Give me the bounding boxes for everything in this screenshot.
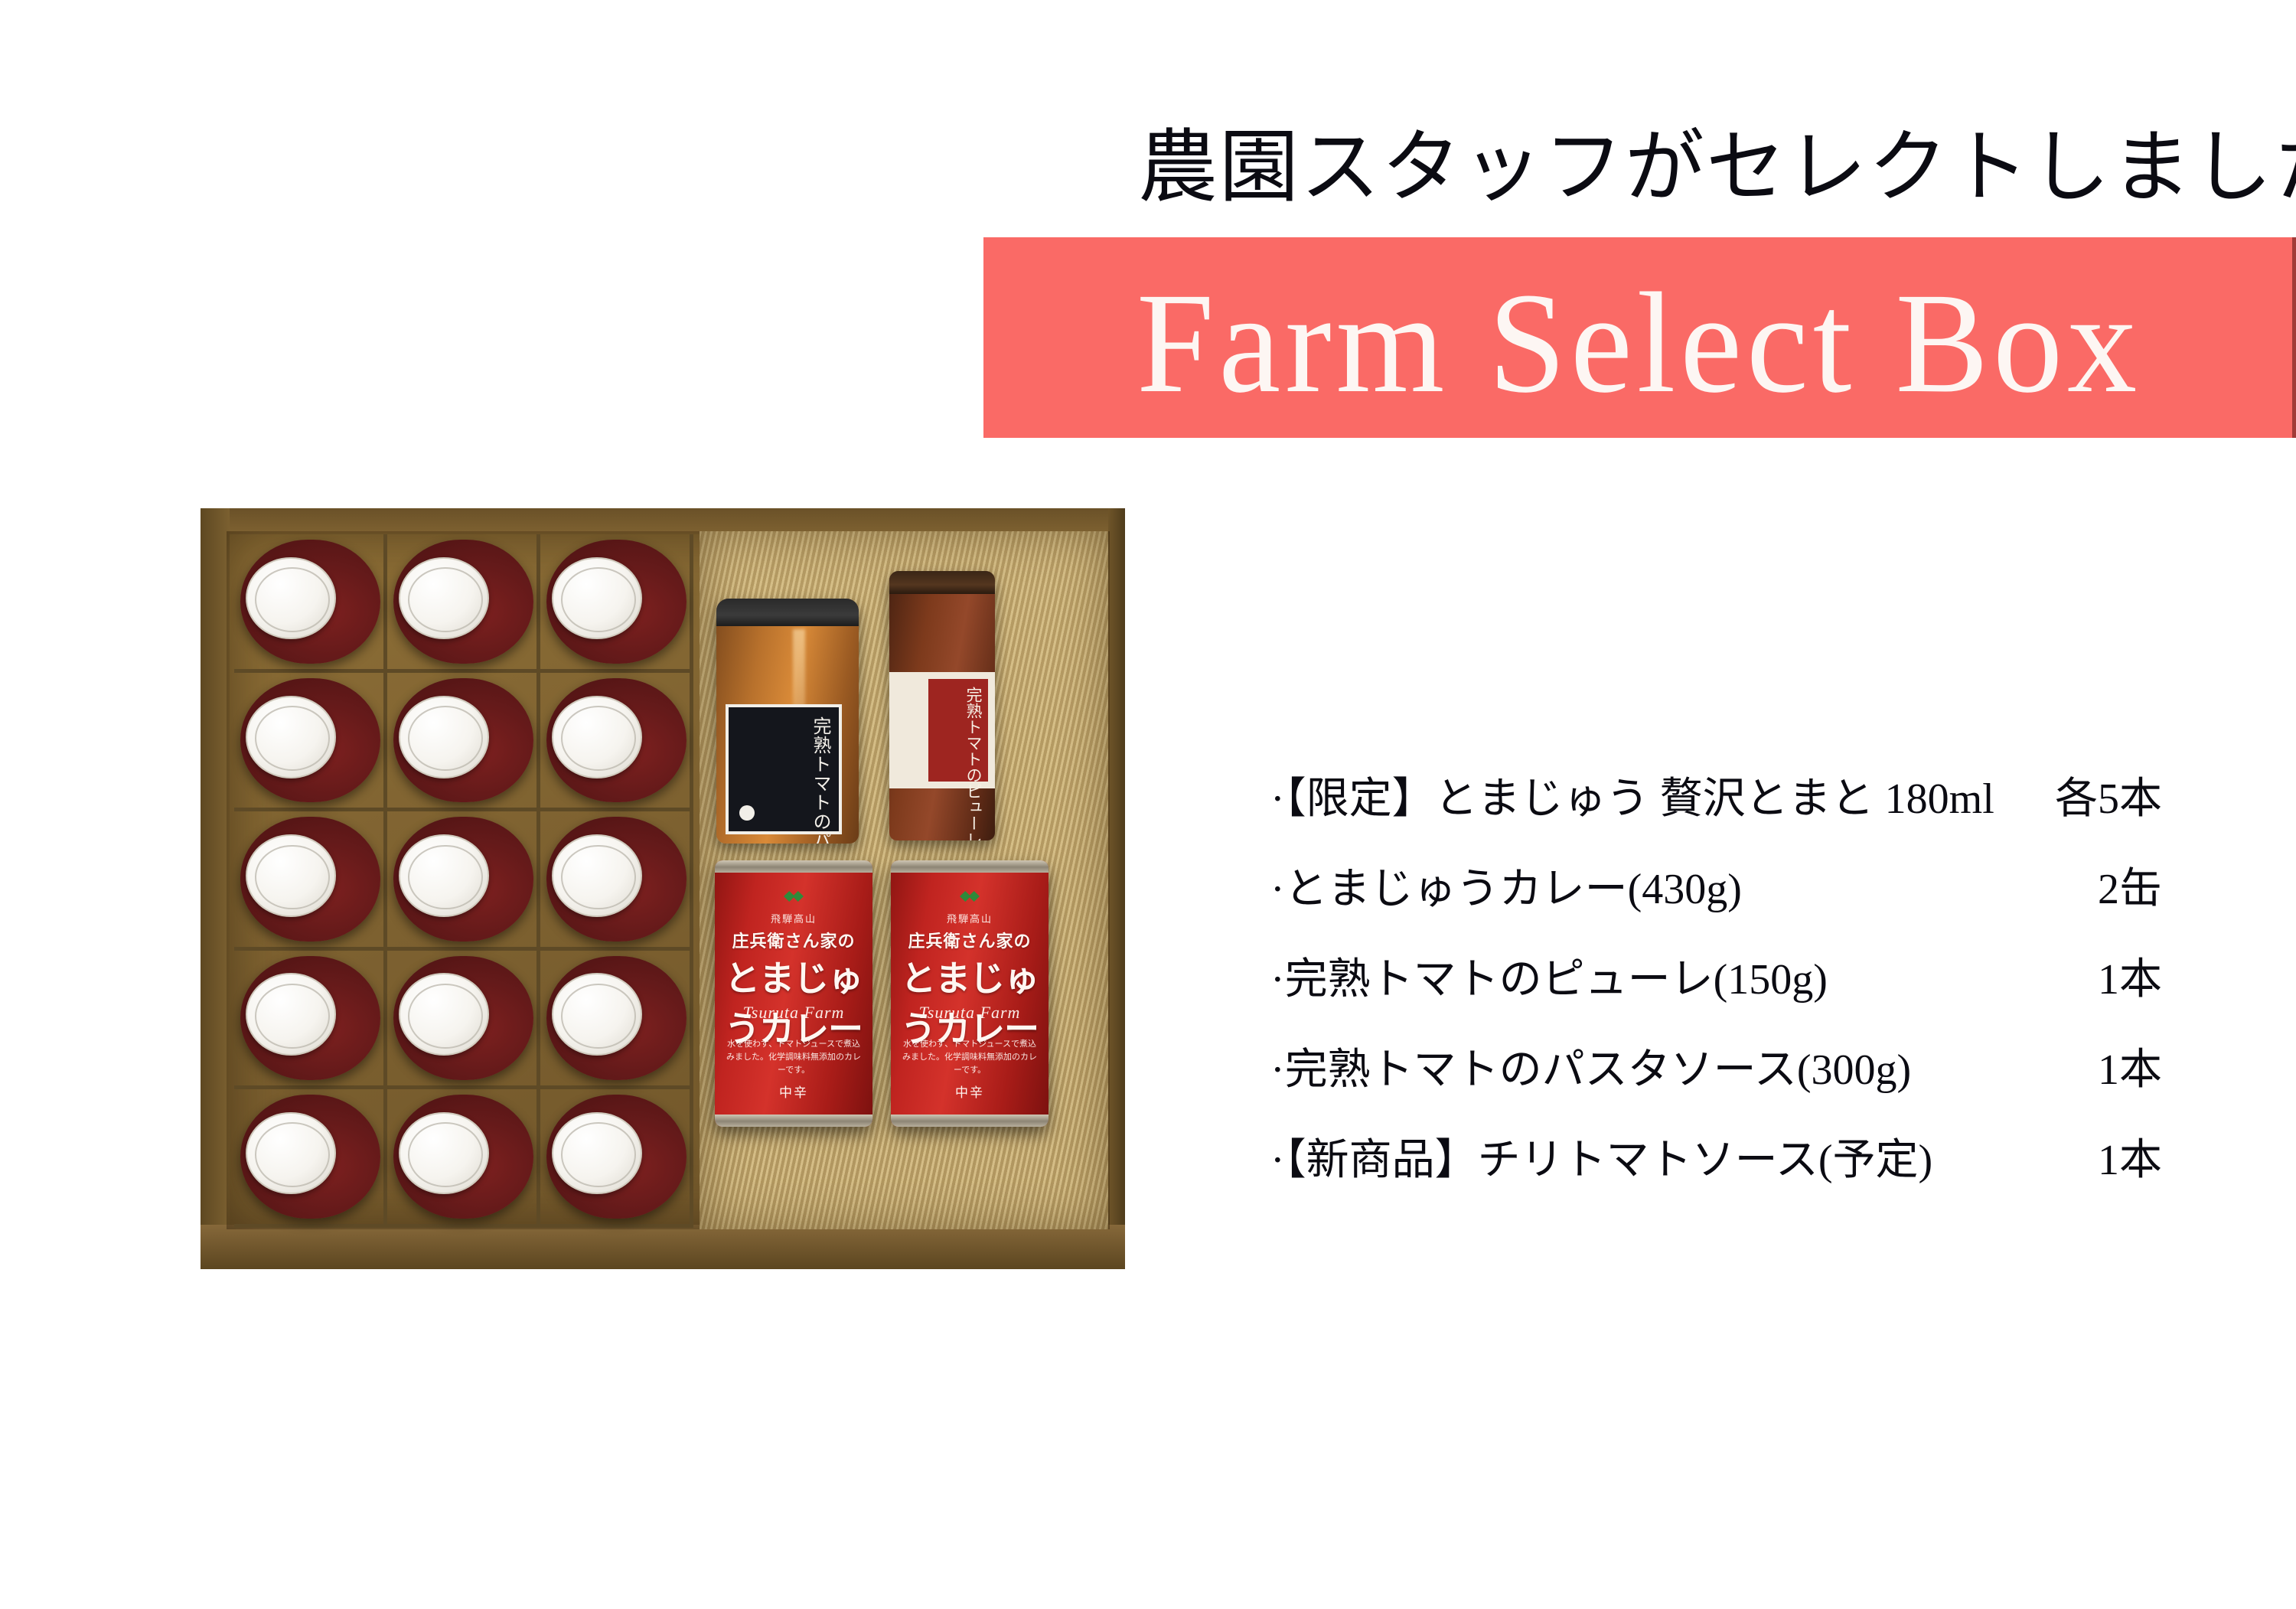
bottle-cell (234, 534, 387, 673)
juice-bottle (393, 1095, 533, 1219)
juice-bottle (546, 956, 687, 1080)
can-spice-level: 中辛 (715, 1082, 872, 1101)
list-item-quantity: 各5本 (2055, 773, 2162, 825)
bottle-cap (246, 696, 336, 778)
can-description: 水を使わず、トマトジュースで煮込みました。化学調味料無添加のカレーです。 (726, 1038, 862, 1077)
can-rim-bottom (715, 1115, 872, 1127)
banner-edge-accent (2292, 237, 2296, 438)
curry-can: 飛騨高山 庄兵衛さん家の とまじゅうカレー Tsuruta Farm 水を使わず… (715, 860, 872, 1127)
bottle-cell (387, 811, 540, 950)
can-brand-text: 庄兵衛さん家の (891, 928, 1049, 952)
tomato-puree-jar-lid (889, 571, 995, 594)
leaf-icon (784, 891, 804, 902)
can-rim-top (715, 860, 872, 873)
juice-bottle (393, 540, 533, 664)
box-flap-right (1108, 508, 1125, 1269)
list-item-quantity: 1本 (2098, 1044, 2162, 1096)
tomato-puree-jar-label: 完熟トマトのピューレ (889, 672, 995, 788)
list-item-label: ·とまじゅうカレー(430g) (1270, 863, 1742, 915)
label-dot-icon (897, 698, 909, 710)
bottle-cap (552, 1112, 642, 1195)
list-item-quantity: 1本 (2098, 1134, 2162, 1186)
bottle-cap (399, 973, 489, 1056)
puree-label-red-panel: 完熟トマトのピューレ (926, 677, 990, 784)
can-product-name: とまじゅうカレー (715, 951, 872, 1052)
bottle-cell (540, 811, 693, 950)
title-banner: Farm Select Box (983, 237, 2296, 438)
box-flap-bottom (201, 1225, 1125, 1269)
bottle-cell (540, 951, 693, 1089)
banner-title-text: Farm Select Box (1137, 271, 2141, 415)
product-photo: 完熟トマトのパスタソース 完熟トマトのピューレ (201, 508, 1125, 1269)
bottle-cap (399, 834, 489, 917)
box-flap-top (201, 508, 1125, 534)
can-product-name: とまじゅうカレー (891, 951, 1049, 1052)
juice-bottle (393, 678, 533, 802)
list-item-quantity: 1本 (2098, 954, 2162, 1006)
bottle-cap (399, 696, 489, 778)
can-farm-signature: Tsuruta Farm (891, 1003, 1049, 1023)
juice-bottle (240, 1095, 380, 1219)
tomato-puree-label-text: 完熟トマトのピューレ (964, 687, 983, 778)
juice-bottle (393, 956, 533, 1080)
page-kicker-heading: 農園スタッフがセレクトしました! (1138, 122, 2102, 214)
list-item: ·【新商品】チリトマトソース(予定) 1本 (1270, 1130, 2174, 1220)
list-item-quantity: 2缶 (2098, 863, 2162, 915)
pasta-sauce-jar-label: 完熟トマトのパスタソース (726, 704, 842, 834)
bottle-cap (552, 834, 642, 917)
can-farm-signature: Tsuruta Farm (715, 1003, 872, 1023)
bottle-cell (387, 534, 540, 673)
bottle-cap (246, 557, 336, 640)
bottle-cell (540, 1089, 693, 1228)
box-flap-left (201, 508, 230, 1269)
can-spice-level: 中辛 (891, 1082, 1049, 1101)
juice-bottle (240, 956, 380, 1080)
juice-bottle (240, 678, 380, 802)
list-item: ·とまじゅうカレー(430g) 2缶 (1270, 859, 2174, 949)
list-item: ·【限定】とまじゅう 贅沢とまと 180ml 各5本 (1270, 769, 2174, 859)
list-item: ·完熟トマトのピューレ(150g) 1本 (1270, 949, 2174, 1039)
bottle-cell (387, 673, 540, 811)
juice-bottle (240, 817, 380, 941)
juice-bottle (546, 1095, 687, 1219)
juice-bottle (240, 540, 380, 664)
leaf-icon (960, 891, 980, 902)
page-root: 農園スタッフがセレクトしました! Farm Select Box (0, 0, 2296, 1609)
bottle-cell (540, 534, 693, 673)
bottle-cap (552, 973, 642, 1056)
bottle-cell (387, 951, 540, 1089)
juice-bottle (393, 817, 533, 941)
can-kicker-text: 飛騨高山 (715, 911, 872, 925)
bottle-cell (387, 1089, 540, 1228)
bottle-cell (540, 673, 693, 811)
bottle-cap (399, 1112, 489, 1195)
list-item: ·完熟トマトのパスタソース(300g) 1本 (1270, 1039, 2174, 1130)
bottle-cell (234, 951, 387, 1089)
bottle-cap (246, 1112, 336, 1195)
label-dot-icon (739, 805, 755, 821)
pasta-sauce-jar: 完熟トマトのパスタソース (716, 599, 859, 844)
pasta-sauce-jar-lid (716, 599, 859, 626)
can-description: 水を使わず、トマトジュースで煮込みました。化学調味料無添加のカレーです。 (902, 1038, 1038, 1077)
curry-can: 飛騨高山 庄兵衛さん家の とまじゅうカレー Tsuruta Farm 水を使わず… (891, 860, 1049, 1127)
bottle-cell (234, 1089, 387, 1228)
product-photo-inner: 完熟トマトのパスタソース 完熟トマトのピューレ (201, 508, 1125, 1269)
bottle-cell (234, 811, 387, 950)
bottle-cap (399, 557, 489, 640)
pasta-sauce-label-text: 完熟トマトのパスタソース (808, 716, 831, 824)
juice-bottle (546, 540, 687, 664)
juice-bottle (546, 678, 687, 802)
list-item-label: ·【限定】とまじゅう 贅沢とまと 180ml (1270, 773, 1994, 825)
bottle-cap (552, 557, 642, 640)
bottle-cell (234, 673, 387, 811)
bottle-cap (246, 834, 336, 917)
list-item-label: ·【新商品】チリトマトソース(予定) (1270, 1134, 1932, 1186)
product-contents-list: ·【限定】とまじゅう 贅沢とまと 180ml 各5本 ·とまじゅうカレー(430… (1270, 769, 2174, 1220)
can-rim-bottom (891, 1115, 1049, 1127)
list-item-label: ·完熟トマトのピューレ(150g) (1270, 954, 1828, 1006)
can-rim-top (891, 860, 1049, 873)
bottle-cap (246, 973, 336, 1056)
list-item-label: ·完熟トマトのパスタソース(300g) (1270, 1044, 1911, 1096)
juice-bottle (546, 817, 687, 941)
can-kicker-text: 飛騨高山 (891, 911, 1049, 925)
bottle-cap (552, 696, 642, 778)
can-brand-text: 庄兵衛さん家の (715, 928, 872, 952)
juice-bottle-grid (234, 534, 693, 1228)
tomato-puree-jar: 完熟トマトのピューレ (889, 571, 995, 840)
wood-wool-packing: 完熟トマトのパスタソース 完熟トマトのピューレ (700, 531, 1108, 1229)
